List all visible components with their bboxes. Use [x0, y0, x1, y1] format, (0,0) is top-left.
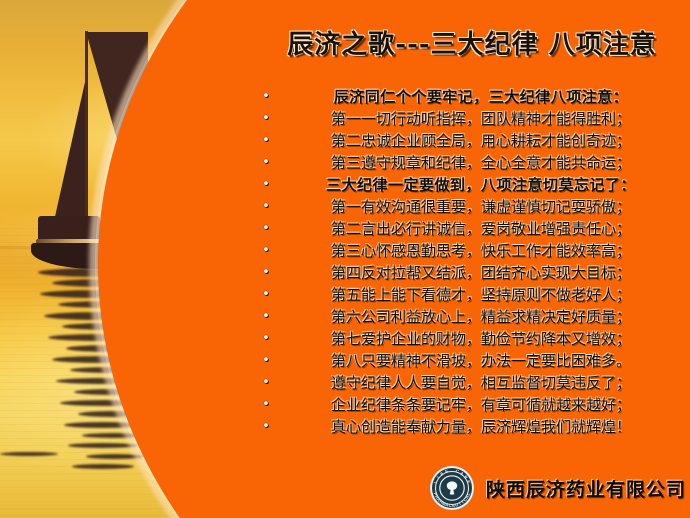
- bullet-icon: •: [255, 328, 277, 350]
- presentation-slide: 辰济之歌---三大纪律 八项注意 •辰济同仁个个要牢记，三大纪律八项注意： •第…: [0, 0, 690, 518]
- bullet-icon: •: [255, 372, 277, 394]
- lyrics-list: •辰济同仁个个要牢记，三大纪律八项注意： •第一一切行动听指挥，团队精神才能得胜…: [255, 86, 685, 438]
- bullet-icon: •: [255, 196, 277, 218]
- company-footer: LIFE CAREPHARMACEUTICAL 陕西辰济药业有限公司: [430, 466, 686, 510]
- lyric-text: 第三心怀感恩勤思考，快乐工作才能效率高；: [277, 240, 685, 262]
- list-item: •真心创造能奉献力量，辰济辉煌我们就辉煌！: [255, 416, 685, 438]
- lyric-text: 真心创造能奉献力量，辰济辉煌我们就辉煌！: [277, 416, 685, 438]
- list-item: •第三遵守规章和纪律，全心全意才能共命运；: [255, 152, 685, 174]
- list-item: •第一有效沟通很重要，谦虚谨慎切记耍骄傲；: [255, 196, 685, 218]
- lyric-text: 第四反对拉帮又结派，团结齐心实现大目标；: [277, 262, 685, 284]
- lyric-text: 第五能上能下看德才，坚持原则不做老好人；: [277, 284, 685, 306]
- logo-ring-text: LIFE CAREPHARMACEUTICAL: [430, 466, 474, 510]
- list-item: •第五能上能下看德才，坚持原则不做老好人；: [255, 284, 685, 306]
- list-item: •辰济同仁个个要牢记，三大纪律八项注意：: [255, 86, 685, 108]
- list-item: •第二忠诚企业顾全局，用心耕耘才能创奇迹；: [255, 130, 685, 152]
- list-item: •三大纪律一定要做到，八项注意切莫忘记了：: [255, 174, 685, 196]
- list-item: •第八只要精神不滑坡，办法一定要比困难多。: [255, 350, 685, 372]
- list-item: •第七爱护企业的财物，勤俭节约降本又增效；: [255, 328, 685, 350]
- lyric-text: 第一一切行动听指挥，团队精神才能得胜利；: [277, 108, 685, 130]
- lyric-text: 第六公司利益放心上，精益求精决定好质量；: [277, 306, 685, 328]
- bullet-icon: •: [255, 350, 277, 372]
- bullet-icon: •: [255, 240, 277, 262]
- bullet-icon: •: [255, 284, 277, 306]
- bullet-icon: •: [255, 130, 277, 152]
- lyric-text: 第三遵守规章和纪律，全心全意才能共命运；: [277, 152, 685, 174]
- bullet-icon: •: [255, 174, 277, 196]
- list-item: •第一一切行动听指挥，团队精神才能得胜利；: [255, 108, 685, 130]
- list-item: •遵守纪律人人要自觉，相互监督切莫违反了；: [255, 372, 685, 394]
- bullet-icon: •: [255, 108, 277, 130]
- bullet-icon: •: [255, 416, 277, 438]
- bullet-icon: •: [255, 394, 277, 416]
- list-item: •第四反对拉帮又结派，团结齐心实现大目标；: [255, 262, 685, 284]
- bullet-icon: •: [255, 306, 277, 328]
- page-title: 辰济之歌---三大纪律 八项注意: [262, 24, 682, 61]
- lyric-text: 第二言出必行讲诚信，爱岗敬业增强责任心；: [277, 218, 685, 240]
- list-item: •第三心怀感恩勤思考，快乐工作才能效率高；: [255, 240, 685, 262]
- bullet-icon: •: [255, 218, 277, 240]
- lyric-text: 遵守纪律人人要自觉，相互监督切莫违反了；: [277, 372, 685, 394]
- list-item: •第六公司利益放心上，精益求精决定好质量；: [255, 306, 685, 328]
- company-tree-logo-icon: LIFE CAREPHARMACEUTICAL: [430, 466, 474, 510]
- lyric-text: 辰济同仁个个要牢记，三大纪律八项注意：: [277, 86, 685, 108]
- bullet-icon: •: [255, 152, 277, 174]
- lyric-text: 三大纪律一定要做到，八项注意切莫忘记了：: [277, 174, 685, 196]
- lyric-text: 第二忠诚企业顾全局，用心耕耘才能创奇迹；: [277, 130, 685, 152]
- lyric-text: 第七爱护企业的财物，勤俭节约降本又增效；: [277, 328, 685, 350]
- bullet-icon: •: [255, 86, 277, 108]
- lyric-text: 第八只要精神不滑坡，办法一定要比困难多。: [277, 350, 685, 372]
- list-item: •第二言出必行讲诚信，爱岗敬业增强责任心；: [255, 218, 685, 240]
- list-item: •企业纪律条条要记牢，有章可循就越来越好；: [255, 394, 685, 416]
- lyric-text: 第一有效沟通很重要，谦虚谨慎切记耍骄傲；: [277, 196, 685, 218]
- lyric-text: 企业纪律条条要记牢，有章可循就越来越好；: [277, 394, 685, 416]
- bullet-icon: •: [255, 262, 277, 284]
- company-name: 陕西辰济药业有限公司: [486, 475, 686, 502]
